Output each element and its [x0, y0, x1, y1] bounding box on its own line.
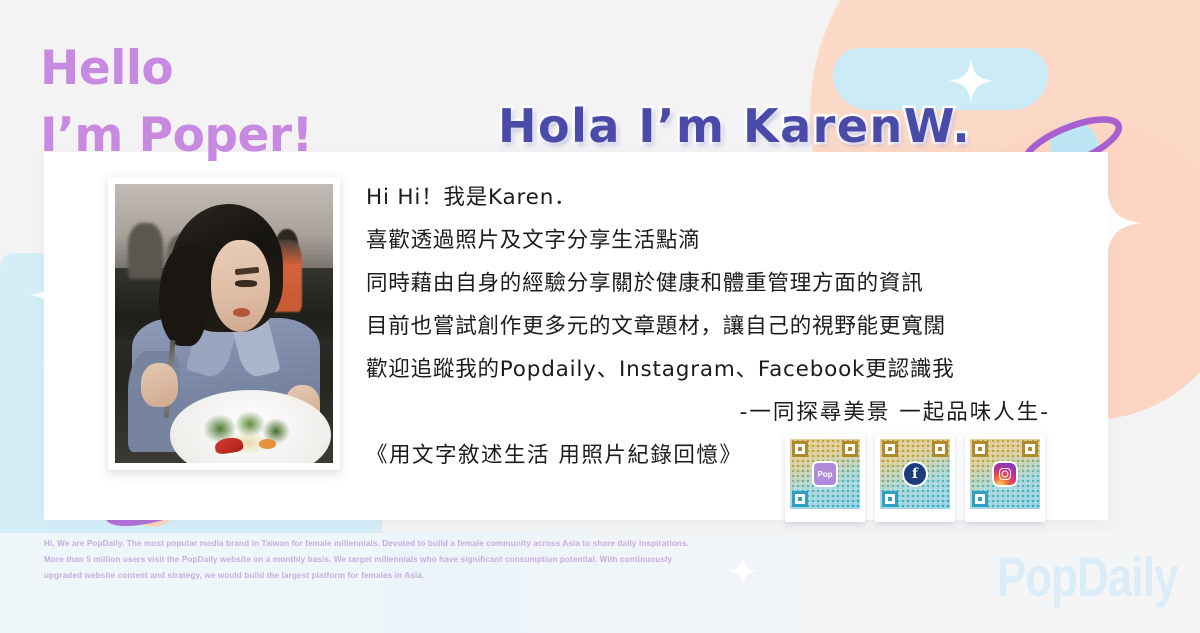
hello-line-2: I’m Poper! — [40, 103, 313, 170]
fine-print-line-2: More than 5 million users visit the PopD… — [44, 552, 1064, 568]
instagram-icon — [994, 463, 1016, 485]
footer-fine-print: Hi, We are PopDaily. The most popular me… — [44, 536, 1064, 584]
fine-print-line-1: Hi, We are PopDaily. The most popular me… — [44, 536, 1064, 552]
sparkle-icon — [948, 58, 994, 104]
profile-photo — [108, 177, 340, 470]
qr-code-popdaily[interactable]: Pop — [785, 434, 865, 522]
bio-line-1: Hi Hi！我是Karen． — [366, 176, 1056, 219]
hello-heading: Hello I’m Poper! — [40, 36, 313, 169]
bio-line-2: 喜歡透過照片及文字分享生活點滴 — [366, 219, 1056, 262]
page-title: Hola I’m KarenW. — [498, 99, 971, 153]
instagram-camera-glyph — [999, 468, 1011, 480]
facebook-icon: f — [904, 463, 926, 485]
hello-line-1: Hello — [40, 36, 313, 103]
bio-line-4: 目前也嘗試創作更多元的文章題材，讓自己的視野能更寬闊 — [366, 305, 1056, 348]
bio-tagline: -一同探尋美景 一起品味人生- — [366, 391, 1056, 434]
profile-photo-image — [115, 184, 333, 463]
qr-code-pattern: f — [880, 439, 950, 509]
bio-text: Hi Hi！我是Karen． 喜歡透過照片及文字分享生活點滴 同時藉由自身的經驗… — [366, 176, 1056, 477]
fine-print-line-3: upgraded website content and strategy, w… — [44, 568, 1064, 584]
qr-code-row: Pop f — [785, 434, 1045, 522]
popdaily-watermark: PopDaily — [997, 544, 1178, 609]
qr-code-pattern — [970, 439, 1040, 509]
profile-card-canvas: Hello I’m Poper! Hola I’m KarenW. — [0, 0, 1200, 633]
popdaily-icon: Pop — [814, 463, 836, 485]
bio-line-5: 歡迎追蹤我的Popdaily、Instagram、Facebook更認識我 — [366, 348, 1056, 391]
bio-line-3: 同時藉由自身的經驗分享關於健康和體重管理方面的資訊 — [366, 262, 1056, 305]
qr-code-facebook[interactable]: f — [875, 434, 955, 522]
qr-code-instagram[interactable] — [965, 434, 1045, 522]
qr-code-pattern: Pop — [790, 439, 860, 509]
